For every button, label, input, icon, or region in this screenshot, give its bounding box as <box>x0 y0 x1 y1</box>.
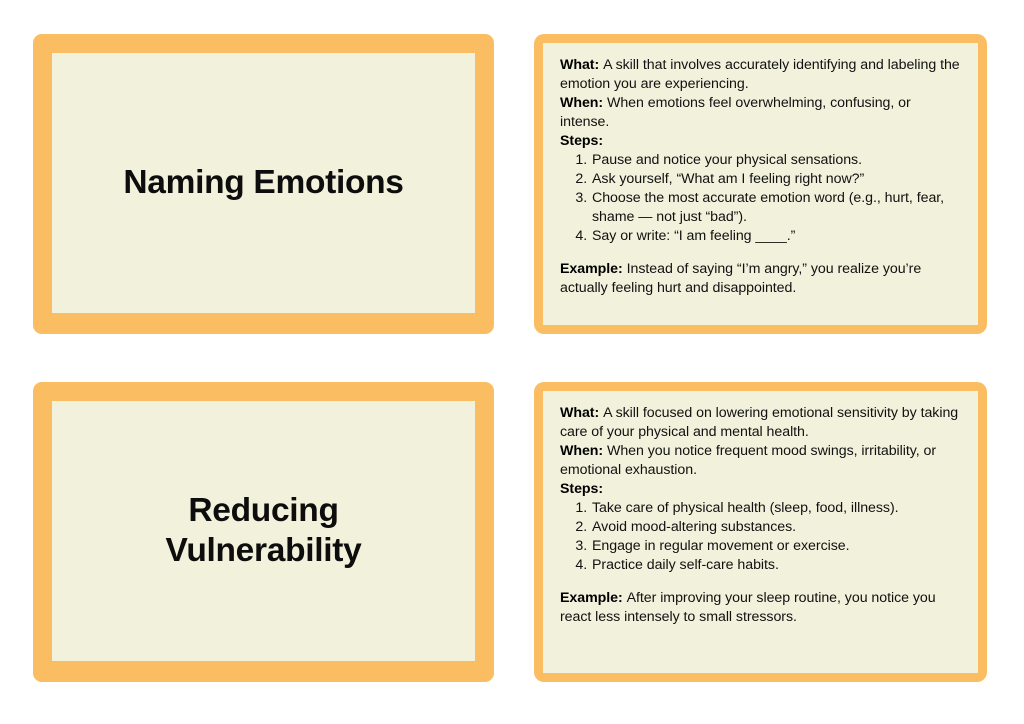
what-block-1: What:A skill that involves accurately id… <box>560 56 961 94</box>
example-block-2: Example:After improving your sleep routi… <box>560 589 961 627</box>
steps-list-1: Pause and notice your physical sensation… <box>560 151 961 246</box>
when-text-1: When emotions feel overwhelming, confusi… <box>560 95 911 130</box>
flashcard-title-card-1[interactable]: Naming Emotions <box>33 34 494 334</box>
flashcard-row-1: Naming Emotions What:A skill that involv… <box>0 34 1024 334</box>
steps-label-1: Steps: <box>560 133 603 149</box>
when-block-1: When:When emotions feel overwhelming, co… <box>560 94 961 132</box>
when-label-2: When: <box>560 443 607 459</box>
step-item: Avoid mood-altering substances. <box>591 518 961 537</box>
example-label-2: Example: <box>560 590 627 606</box>
flashcard-title-card-1-inner: Naming Emotions <box>52 53 475 313</box>
steps-label-2: Steps: <box>560 481 603 497</box>
what-label-2: What: <box>560 405 603 421</box>
what-label-1: What: <box>560 57 603 73</box>
steps-list-2: Take care of physical health (sleep, foo… <box>560 499 961 575</box>
step-item: Take care of physical health (sleep, foo… <box>591 499 961 518</box>
flashcard-sheet: Naming Emotions What:A skill that involv… <box>0 0 1024 724</box>
when-label-1: When: <box>560 95 607 111</box>
step-item: Practice daily self-care habits. <box>591 556 961 575</box>
steps-heading-2: Steps: <box>560 480 961 499</box>
flashcard-title-1: Naming Emotions <box>123 163 403 203</box>
what-text-2: A skill focused on lowering emotional se… <box>560 405 958 440</box>
flashcard-detail-card-1-inner: What:A skill that involves accurately id… <box>543 43 978 325</box>
flashcard-title-card-2-inner: Reducing Vulnerability <box>52 401 475 661</box>
steps-heading-1: Steps: <box>560 132 961 151</box>
step-item: Choose the most accurate emotion word (e… <box>591 189 961 227</box>
example-block-1: Example:Instead of saying “I’m angry,” y… <box>560 260 961 298</box>
example-label-1: Example: <box>560 261 627 277</box>
flashcard-title-2: Reducing Vulnerability <box>166 491 362 571</box>
flashcard-row-2: Reducing Vulnerability What:A skill focu… <box>0 382 1024 682</box>
step-item: Engage in regular movement or exercise. <box>591 537 961 556</box>
step-item: Ask yourself, “What am I feeling right n… <box>591 170 961 189</box>
when-text-2: When you notice frequent mood swings, ir… <box>560 443 936 478</box>
step-item: Say or write: “I am feeling ____.” <box>591 227 961 246</box>
flashcard-detail-card-1[interactable]: What:A skill that involves accurately id… <box>534 34 987 334</box>
step-item: Pause and notice your physical sensation… <box>591 151 961 170</box>
flashcard-title-card-2[interactable]: Reducing Vulnerability <box>33 382 494 682</box>
flashcard-detail-card-2-inner: What:A skill focused on lowering emotion… <box>543 391 978 673</box>
what-block-2: What:A skill focused on lowering emotion… <box>560 404 961 442</box>
flashcard-detail-card-2[interactable]: What:A skill focused on lowering emotion… <box>534 382 987 682</box>
when-block-2: When:When you notice frequent mood swing… <box>560 442 961 480</box>
what-text-1: A skill that involves accurately identif… <box>560 57 960 92</box>
